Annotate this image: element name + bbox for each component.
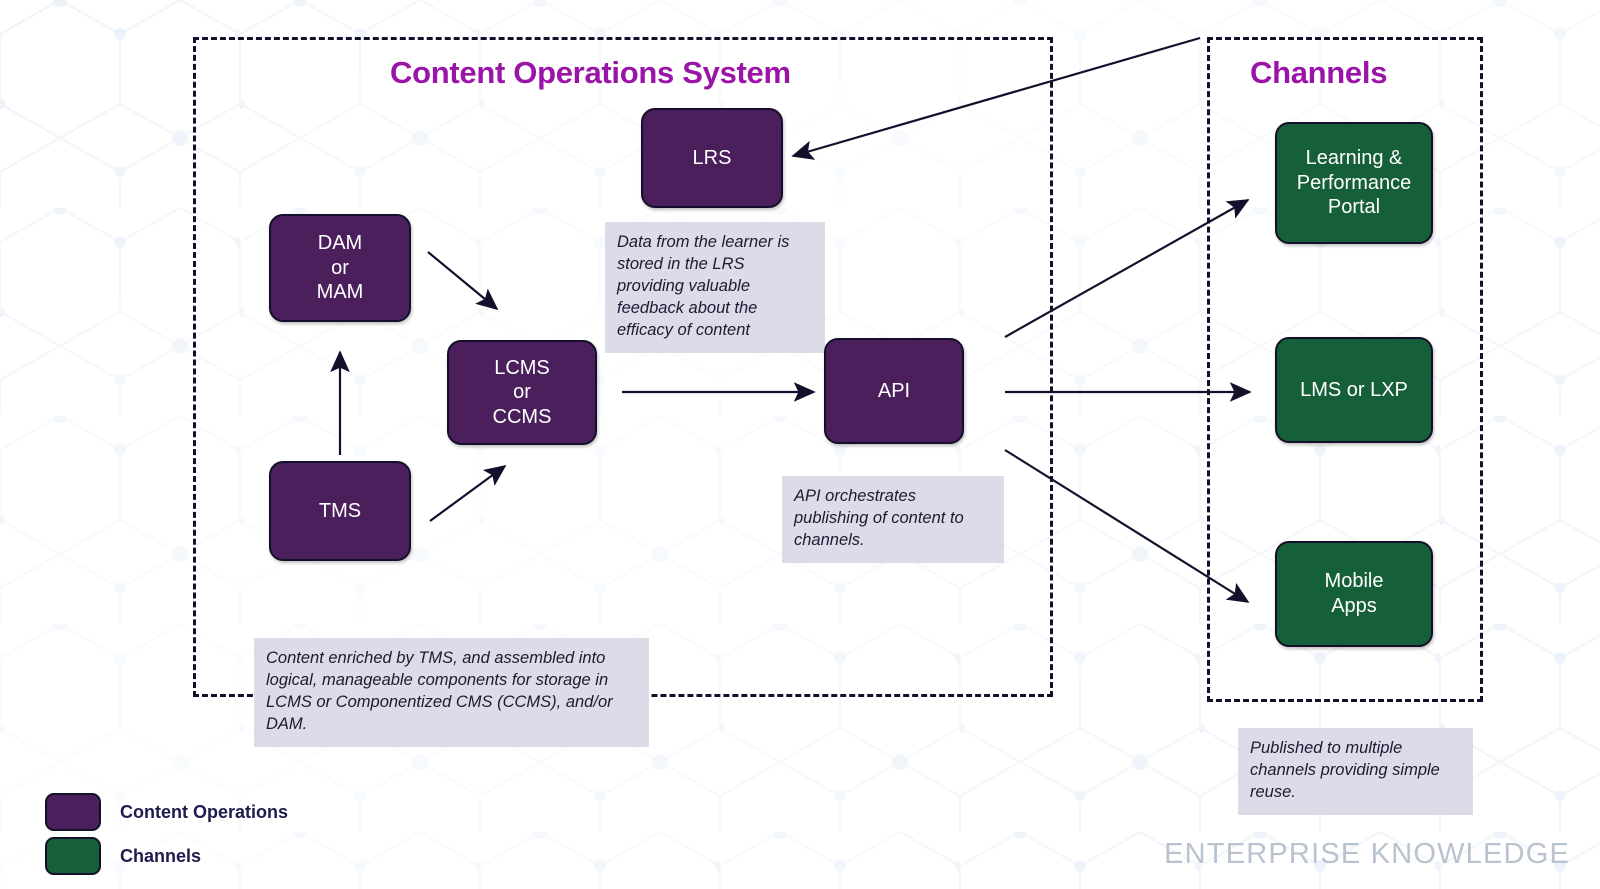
node-lcms-or-ccms[interactable]: LCMSorCCMS (447, 340, 597, 445)
legend-label-content-operations: Content Operations (120, 802, 288, 823)
node-learning-performance-portal-label: Learning &PerformancePortal (1297, 146, 1412, 220)
node-lrs[interactable]: LRS (641, 108, 783, 208)
legend-item-content-operations: Content Operations (45, 790, 288, 834)
node-tms-label: TMS (319, 499, 361, 524)
node-tms[interactable]: TMS (269, 461, 411, 561)
note-lrs: Data from the learner is stored in the L… (605, 222, 825, 353)
node-learning-performance-portal[interactable]: Learning &PerformancePortal (1275, 122, 1433, 244)
node-dam-or-mam-label: DAMorMAM (317, 231, 364, 305)
panel-title-channels: Channels (1250, 55, 1387, 91)
note-channels: Published to multiple channels providing… (1238, 728, 1473, 815)
node-lms-or-lxp-label: LMS or LXP (1300, 378, 1408, 403)
legend-item-channels: Channels (45, 834, 288, 878)
panel-title-content-operations-system: Content Operations System (390, 55, 791, 91)
note-api: API orchestrates publishing of content t… (782, 476, 1004, 563)
watermark-enterprise-knowledge: ENTERPRISE KNOWLEDGE (1164, 838, 1570, 871)
node-mobile-apps-label: MobileApps (1325, 569, 1384, 618)
node-dam-or-mam[interactable]: DAMorMAM (269, 214, 411, 322)
legend-swatch-channels (45, 837, 101, 875)
node-lcms-or-ccms-label: LCMSorCCMS (493, 356, 552, 430)
note-content-operations: Content enriched by TMS, and assembled i… (254, 638, 649, 747)
legend-swatch-content-operations (45, 793, 101, 831)
legend: Content Operations Channels (45, 790, 288, 878)
node-api-label: API (878, 379, 910, 404)
node-lms-or-lxp[interactable]: LMS or LXP (1275, 337, 1433, 443)
node-api[interactable]: API (824, 338, 964, 444)
node-mobile-apps[interactable]: MobileApps (1275, 541, 1433, 647)
legend-label-channels: Channels (120, 846, 201, 867)
diagram-canvas: Content Operations System Channels (0, 0, 1600, 889)
